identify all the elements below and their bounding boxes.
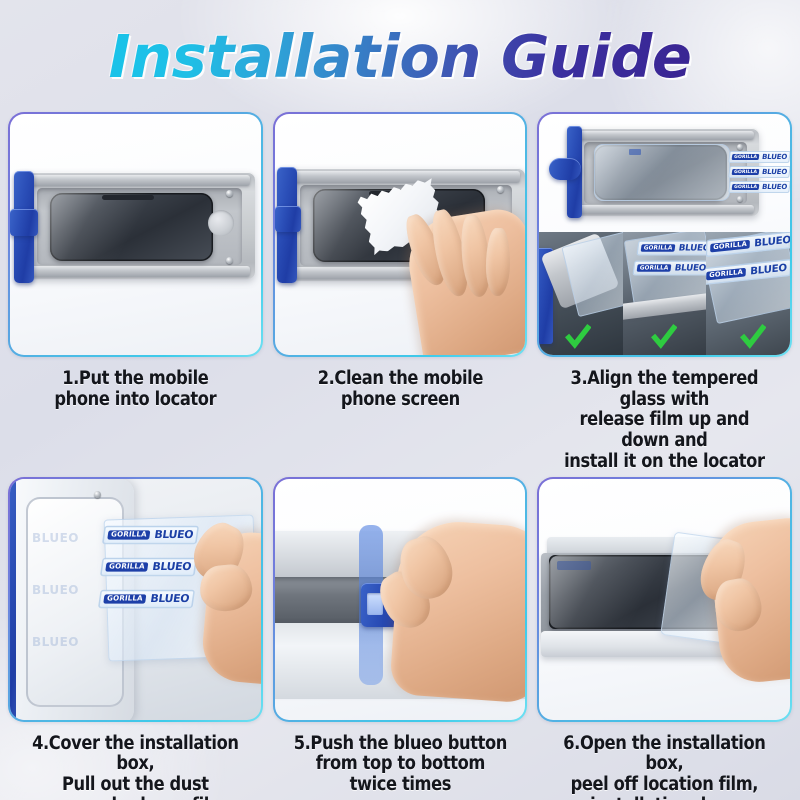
tray-screw-bottom — [226, 257, 233, 264]
release-tab-1: GORILLA BLUEO — [102, 525, 199, 544]
step-card-2: 2.Clean the mobile phone screen — [273, 112, 528, 473]
tab-brand-pill: GORILLA — [107, 530, 150, 539]
brand-watermark: BLUEO — [32, 531, 79, 545]
screen-status-bar — [557, 561, 591, 570]
tab-brand-pill: GORILLA — [636, 264, 671, 272]
tab-brand-name: BLUEO — [152, 560, 192, 572]
tray-screw-top — [226, 190, 233, 197]
release-tab-closeup-1: GORILLA BLUEO — [636, 241, 706, 256]
tray-bottom-rail — [23, 266, 250, 277]
step-card-5: 5.Push the blueo button from top to bott… — [273, 477, 528, 800]
step-4-image-frame: BLUEO BLUEO BLUEO GORILLA BLUEO GORILLA … — [8, 477, 263, 722]
tab-brand-name: BLUEO — [154, 528, 194, 540]
blue-clip-tab — [10, 209, 38, 236]
tab-brand-pill: GORILLA — [732, 169, 760, 175]
step-6-image-frame — [537, 477, 792, 722]
steps-grid: 1.Put the mobile phone into locator — [0, 112, 800, 800]
step-2-image-frame — [273, 112, 528, 357]
camera-cutout — [208, 210, 234, 236]
tray-top-rail — [572, 131, 754, 140]
tempered-glass — [594, 144, 730, 201]
closeup-1 — [539, 232, 623, 355]
tab-brand-name: BLUEO — [762, 168, 788, 176]
tab-brand-name: BLUEO — [750, 262, 787, 277]
tray-top-rail — [286, 171, 520, 183]
tab-brand-pill: GORILLA — [711, 240, 751, 253]
step-4-photo: BLUEO BLUEO BLUEO GORILLA BLUEO GORILLA … — [10, 479, 261, 720]
tab-brand-pill: GORILLA — [732, 154, 760, 160]
step-card-6: 6.Open the installation box, peel off lo… — [537, 477, 792, 800]
phone-device — [50, 193, 213, 261]
step-2-caption: 2.Clean the mobile phone screen — [288, 369, 512, 410]
check-icon — [740, 324, 766, 350]
tab-brand-name: BLUEO — [678, 243, 707, 253]
check-icon — [651, 324, 677, 350]
step-card-3: GORILLA BLUEO GORILLA BLUEO GORILLA BLUE… — [537, 112, 792, 473]
tray-bottom-rail — [572, 205, 754, 214]
step-6-photo — [539, 479, 790, 720]
phone-notch — [102, 195, 154, 200]
little-finger — [485, 228, 510, 296]
step-1-image-frame — [8, 112, 263, 357]
step-3-photo: GORILLA BLUEO GORILLA BLUEO GORILLA BLUE… — [539, 114, 790, 355]
tab-brand-name: BLUEO — [762, 183, 788, 191]
closeup-2: GORILLA BLUEO GORILLA BLUEO — [623, 232, 707, 355]
tray-top-rail — [23, 175, 250, 186]
tab-brand-name: BLUEO — [754, 234, 790, 249]
box-screw — [94, 491, 101, 498]
brand-watermark: BLUEO — [32, 583, 79, 597]
step-5-caption: 5.Push the blueo button from top to bott… — [288, 734, 512, 796]
step-5-image-frame — [273, 477, 528, 722]
tab-brand-name: BLUEO — [674, 263, 707, 273]
step-card-4: BLUEO BLUEO BLUEO GORILLA BLUEO GORILLA … — [8, 477, 263, 800]
step-1-caption: 1.Put the mobile phone into locator — [23, 369, 247, 410]
step-3-closeup-strip: GORILLA BLUEO GORILLA BLUEO — [539, 232, 790, 355]
page-title: Installation Guide — [109, 22, 692, 91]
blue-clip-tab — [549, 158, 581, 180]
screen-glare — [50, 193, 213, 261]
release-tab-2: GORILLA BLUEO — [728, 166, 790, 178]
tab-brand-pill: GORILLA — [707, 268, 747, 281]
release-tab-closeup-2: GORILLA BLUEO — [632, 261, 706, 276]
header: Installation Guide — [0, 0, 800, 112]
release-tab-3: GORILLA BLUEO — [728, 181, 790, 193]
tab-brand-name: BLUEO — [150, 592, 190, 604]
tab-brand-pill: GORILLA — [732, 184, 760, 190]
step-3-main-view: GORILLA BLUEO GORILLA BLUEO GORILLA BLUE… — [539, 114, 790, 232]
check-icon — [565, 324, 591, 350]
tab-brand-pill: GORILLA — [103, 594, 146, 603]
release-tab-2: GORILLA BLUEO — [100, 557, 197, 576]
closeup-3: GORILLA BLUEO GORILLA BLUEO — [706, 232, 790, 355]
step-3-image-frame: GORILLA BLUEO GORILLA BLUEO GORILLA BLUE… — [537, 112, 792, 357]
step-3-caption: 3.Align the tempered glass with release … — [553, 369, 777, 473]
step-4-caption: 4.Cover the installation box, Pull out t… — [23, 734, 247, 800]
release-tab-1: GORILLA BLUEO — [728, 151, 790, 163]
tab-brand-pill: GORILLA — [640, 244, 675, 252]
tab-brand-pill: GORILLA — [105, 562, 148, 571]
tab-brand-name: BLUEO — [762, 153, 788, 161]
release-tab-3: GORILLA BLUEO — [98, 589, 195, 608]
step-6-caption: 6.Open the installation box, peel off lo… — [553, 734, 777, 800]
step-1-photo — [10, 114, 261, 355]
brand-watermark: BLUEO — [32, 635, 79, 649]
step-card-1: 1.Put the mobile phone into locator — [8, 112, 263, 473]
step-2-photo — [275, 114, 526, 355]
label-badge — [629, 149, 641, 155]
step-5-photo — [275, 479, 526, 720]
tray-screw-top — [497, 186, 504, 193]
blue-clip-tab — [275, 206, 301, 232]
